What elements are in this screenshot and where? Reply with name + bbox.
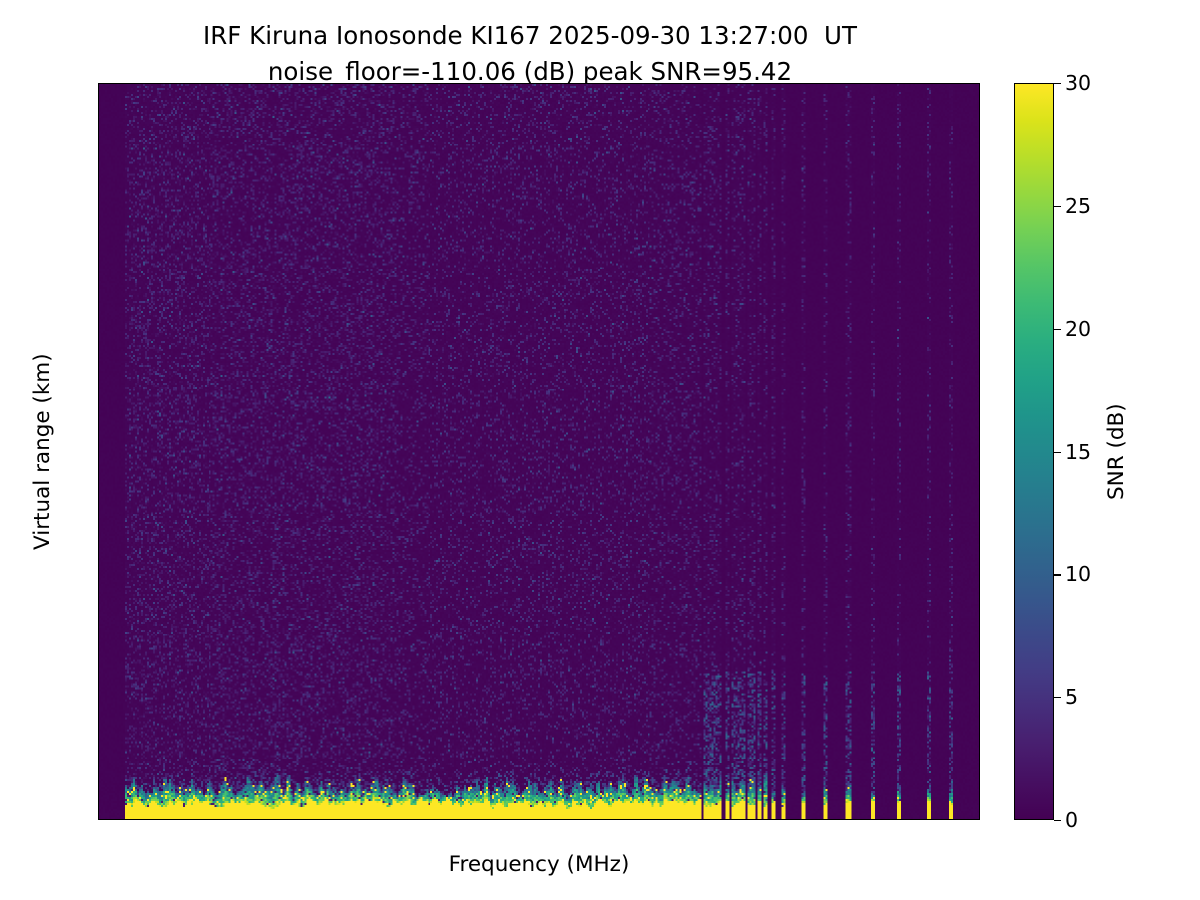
colorbar-tick-label: 15 [1065,440,1091,464]
y-axis-label: Virtual range (km) [30,353,55,550]
colorbar-tick-label: 5 [1065,685,1078,709]
colorbar-tick-mark [1054,574,1061,575]
y-tick-mark [98,698,99,699]
ionogram-plot-area: 0100200300400500600 246810121416 [98,83,980,820]
colorbar-tick-label: 30 [1065,71,1091,95]
figure-title-line-1: IRF Kiruna Ionosonde KI167 2025-09-30 13… [0,18,1060,54]
colorbar-tick-label: 0 [1065,808,1078,832]
colorbar-tick-label: 25 [1065,194,1091,218]
colorbar-tick-mark [1054,697,1061,698]
y-tick-mark [98,330,99,331]
colorbar-tick-mark [1054,206,1061,207]
colorbar-gradient [1015,84,1053,819]
figure-title: IRF Kiruna Ionosonde KI167 2025-09-30 13… [0,18,1060,90]
colorbar-tick-label: 10 [1065,562,1091,586]
colorbar-tick-mark [1054,329,1061,330]
ionogram-heatmap [99,84,979,819]
x-axis-label: Frequency (MHz) [98,852,980,877]
colorbar-tick-mark [1054,820,1061,821]
y-tick-mark [98,575,99,576]
y-tick-mark [98,207,99,208]
ionogram-figure: IRF Kiruna Ionosonde KI167 2025-09-30 13… [0,0,1200,900]
colorbar-label: SNR (dB) [1104,403,1129,500]
y-tick-mark [98,453,99,454]
colorbar [1014,83,1054,820]
y-tick-mark [98,84,99,85]
colorbar-tick-label: 20 [1065,317,1091,341]
colorbar-tick-mark [1054,83,1061,84]
colorbar-tick-mark [1054,452,1061,453]
